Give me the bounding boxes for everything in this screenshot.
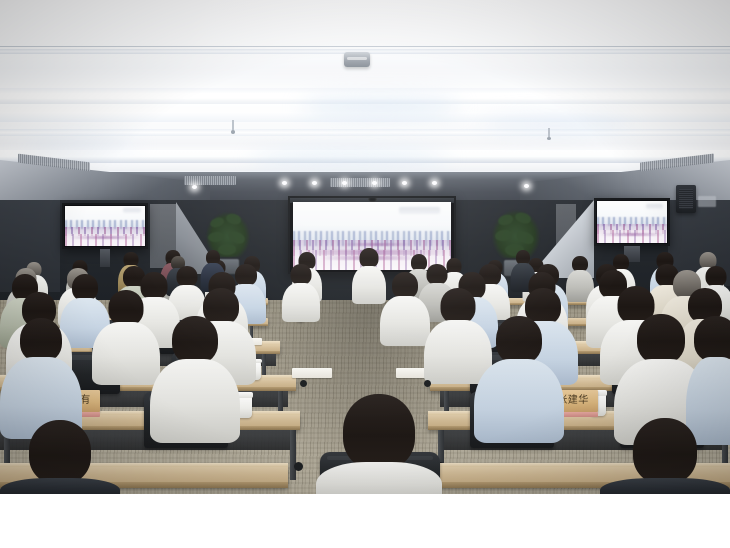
- attendee-r3-5: [380, 272, 430, 346]
- handout-r4-1: [292, 368, 332, 378]
- ceiling: [0, 0, 730, 200]
- attendee-r6-center: [316, 394, 442, 494]
- downlight-7: [192, 185, 197, 189]
- vent-grille-2: [184, 176, 236, 185]
- attendee-r6-right: [600, 418, 730, 494]
- left-side-screen[interactable]: [62, 203, 148, 249]
- downlight-8: [524, 184, 529, 188]
- downlight-4: [372, 181, 377, 185]
- downlight-5: [402, 181, 407, 185]
- downlight-6: [432, 181, 437, 185]
- downlight-1: [282, 181, 287, 185]
- downlight-2: [312, 181, 317, 185]
- attendee-r5-3: [474, 316, 564, 442]
- wall-speaker: [676, 185, 696, 213]
- conference-room-photograph: 李振华 王文强: [0, 0, 730, 494]
- wall-sign: [698, 196, 716, 207]
- desk-caster-3: [300, 380, 307, 387]
- photo-page: 李振华 王文强: [0, 0, 730, 548]
- desk-leg-r5b: [290, 430, 296, 480]
- attendee-r5-2: [150, 316, 240, 442]
- desk-caster-4: [424, 380, 431, 387]
- attendee-r6-left: [0, 420, 120, 494]
- downlight-3: [342, 181, 347, 185]
- desk-caster-1: [294, 462, 303, 471]
- ceiling-projector: [344, 52, 370, 67]
- attendee-r2-6: [282, 264, 320, 322]
- ceiling-light-band-4: [0, 129, 730, 136]
- left-screen-stand: [100, 249, 110, 267]
- right-side-screen[interactable]: [594, 198, 670, 246]
- vent-grille-3: [330, 178, 390, 187]
